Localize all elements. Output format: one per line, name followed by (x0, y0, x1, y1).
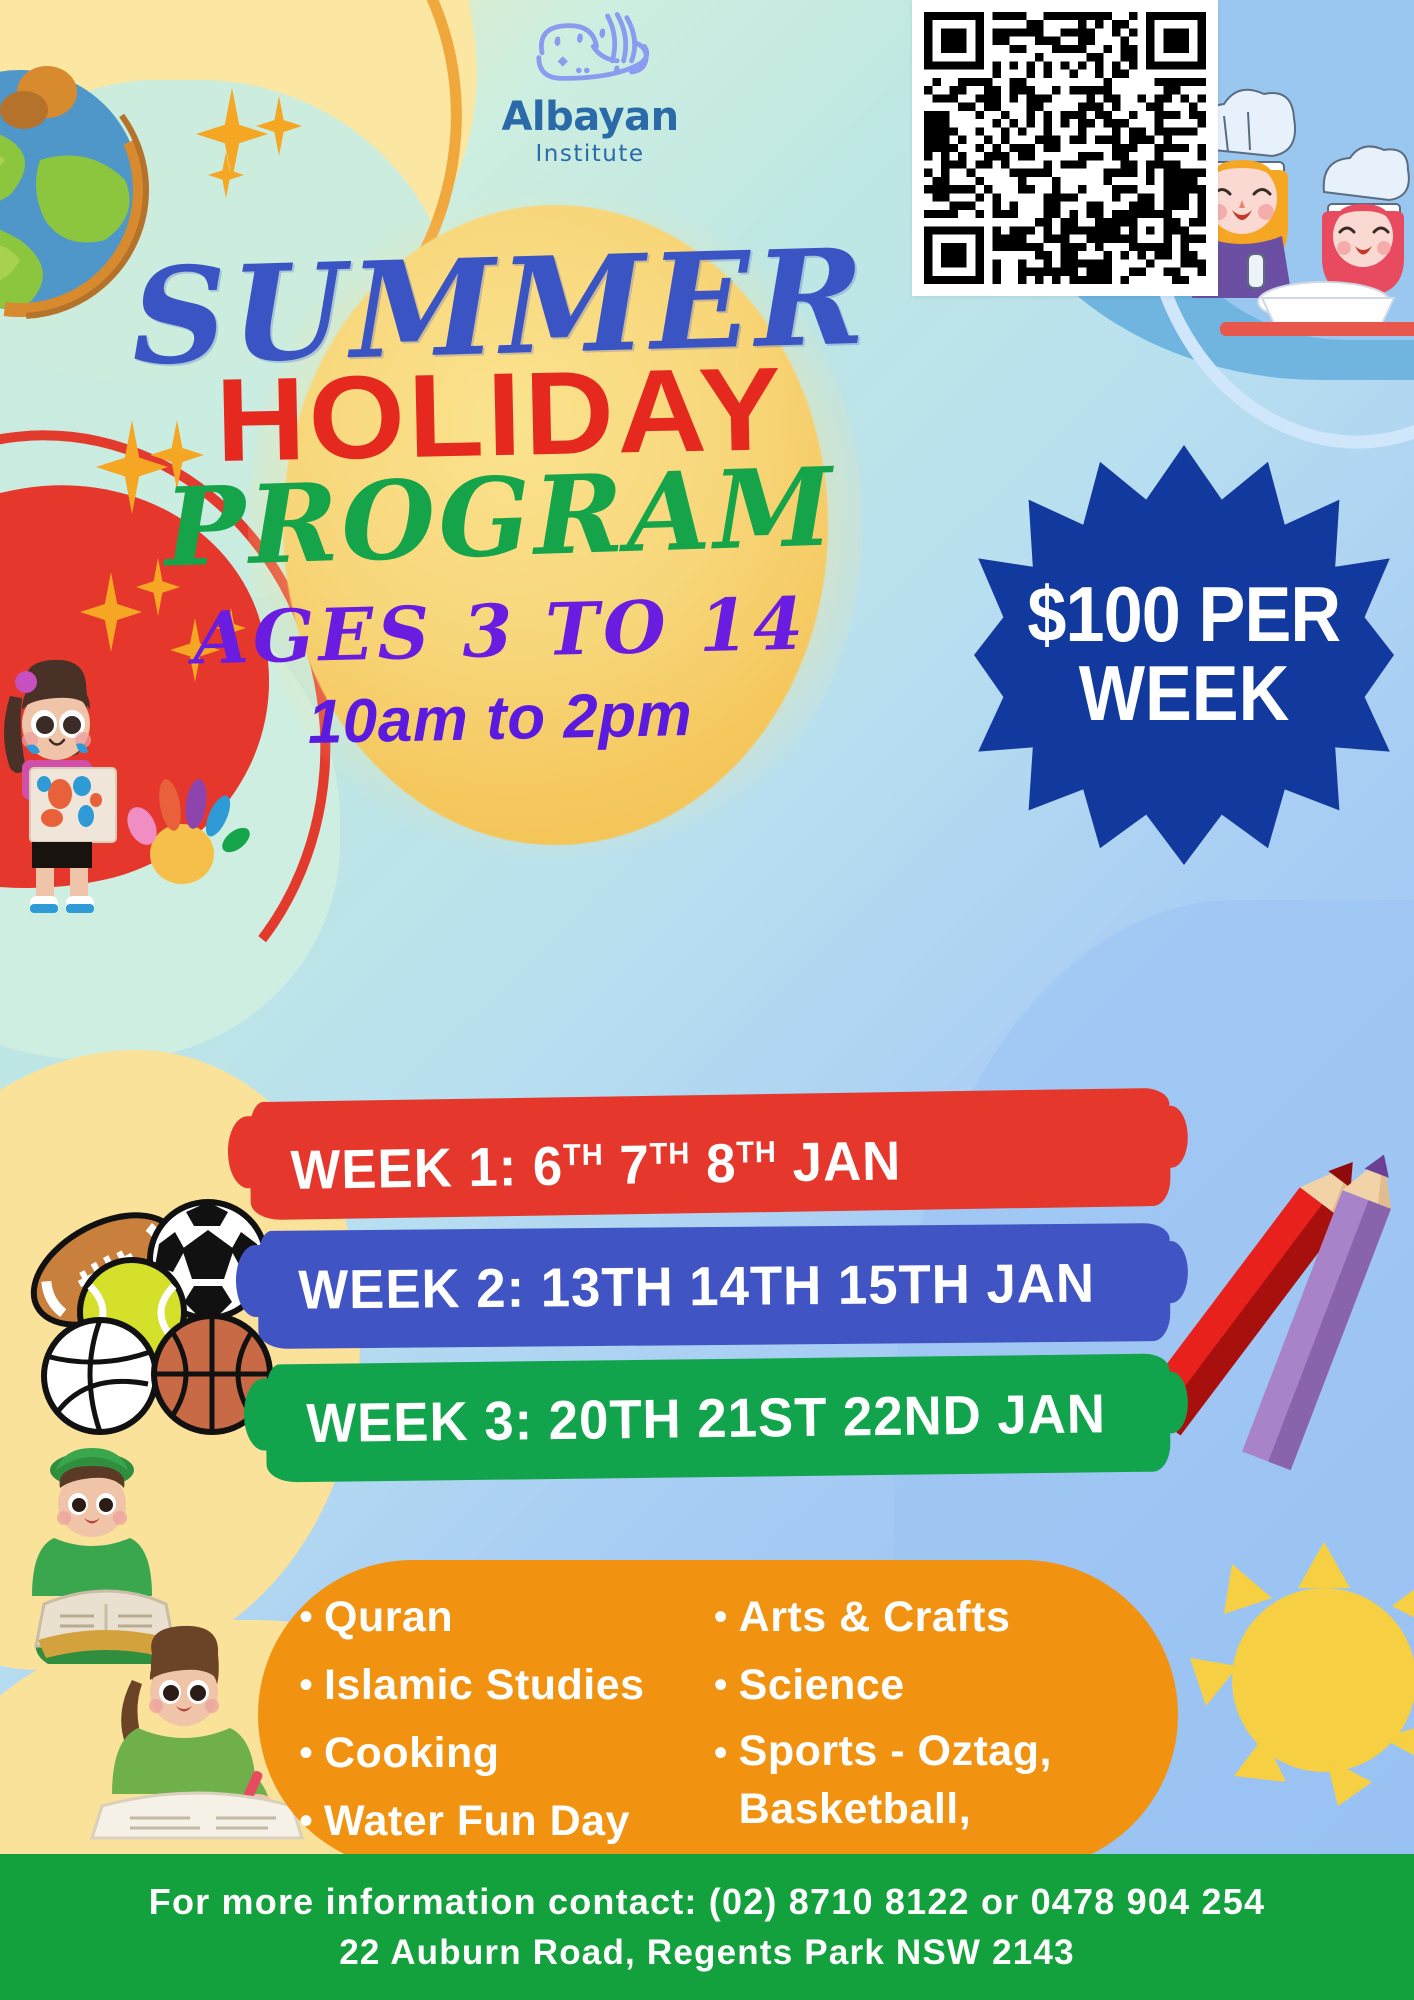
bullet-icon: • (288, 1790, 324, 1852)
activities-column-left: •Quran•Islamic Studies•Cooking•Water Fun… (288, 1586, 703, 1844)
activity-label: Science (739, 1654, 905, 1716)
activities-panel: •Quran•Islamic Studies•Cooking•Water Fun… (258, 1560, 1178, 1870)
albayan-arabic-mark-icon (510, 8, 670, 88)
brand-name: Albayan (430, 97, 750, 137)
activity-item: •Arts & Crafts (703, 1586, 1138, 1648)
bullet-icon: • (288, 1586, 324, 1648)
activity-item: •Sports - Oztag, Basketball, (703, 1722, 1138, 1838)
contact-address-line: 22 Auburn Road, Regents Park NSW 2143 (339, 1928, 1075, 1979)
time-line: 10am to 2pm (0, 673, 1001, 765)
activity-item: •Islamic Studies (288, 1654, 703, 1716)
week-banner-2-text: WEEK 2: 13TH 14TH 15TH JAN (258, 1223, 1135, 1349)
price-amount: $100 PER (1028, 575, 1341, 653)
bullet-icon: • (703, 1654, 739, 1716)
week-banner-list: WEEK 1: 6TH 7TH 8TH JAN WEEK 2: 13TH 14T… (250, 1095, 1170, 1491)
activity-label: Sports - Oztag, Basketball, (739, 1722, 1138, 1838)
poster-canvas: Albayan Institute SUMMER HOLIDAY PROGRAM… (0, 0, 1414, 2000)
bullet-icon: • (288, 1722, 324, 1784)
ages-line: AGES 3 TO 14 (0, 576, 1001, 685)
week-banner-1: WEEK 1: 6TH 7TH 8TH JAN (249, 1088, 1171, 1220)
week-banner-3-text: WEEK 3: 20TH 21ST 22ND JAN (265, 1354, 1134, 1483)
activities-column-right: •Arts & Crafts•Science•Sports - Oztag, B… (703, 1586, 1138, 1844)
week-banner-3: WEEK 3: 20TH 21ST 22ND JAN (265, 1353, 1170, 1482)
activity-item: •Science (703, 1654, 1138, 1716)
brand-subtitle: Institute (430, 141, 750, 167)
activity-label: Arts & Crafts (739, 1586, 1011, 1648)
activity-label: Water Fun Day (324, 1790, 630, 1852)
activity-item: •Quran (288, 1586, 703, 1648)
activity-item: •Water Fun Day (288, 1790, 703, 1852)
price-badge: $100 PER WEEK (974, 445, 1394, 865)
activity-item: •Cooking (288, 1722, 703, 1784)
contact-footer: For more information contact: (02) 8710 … (0, 1854, 1414, 2000)
activity-label: Islamic Studies (324, 1654, 645, 1716)
activity-label: Cooking (324, 1722, 499, 1784)
bullet-icon: • (703, 1586, 739, 1648)
price-period: WEEK (1079, 653, 1290, 735)
bullet-icon: • (288, 1654, 324, 1716)
week-banner-1-text: WEEK 1: 6TH 7TH 8TH JAN (249, 1088, 1134, 1229)
activity-label: Quran (324, 1586, 453, 1648)
brand-logo: Albayan Institute (430, 8, 750, 167)
title-block: SUMMER HOLIDAY PROGRAM AGES 3 TO 14 10am… (0, 245, 1000, 754)
week-banner-2: WEEK 2: 13TH 14TH 15TH JAN (258, 1223, 1171, 1349)
contact-phone-line: For more information contact: (02) 8710 … (149, 1876, 1265, 1928)
reading-boy-illustration (14, 1434, 244, 1694)
bullet-icon: • (703, 1722, 739, 1784)
